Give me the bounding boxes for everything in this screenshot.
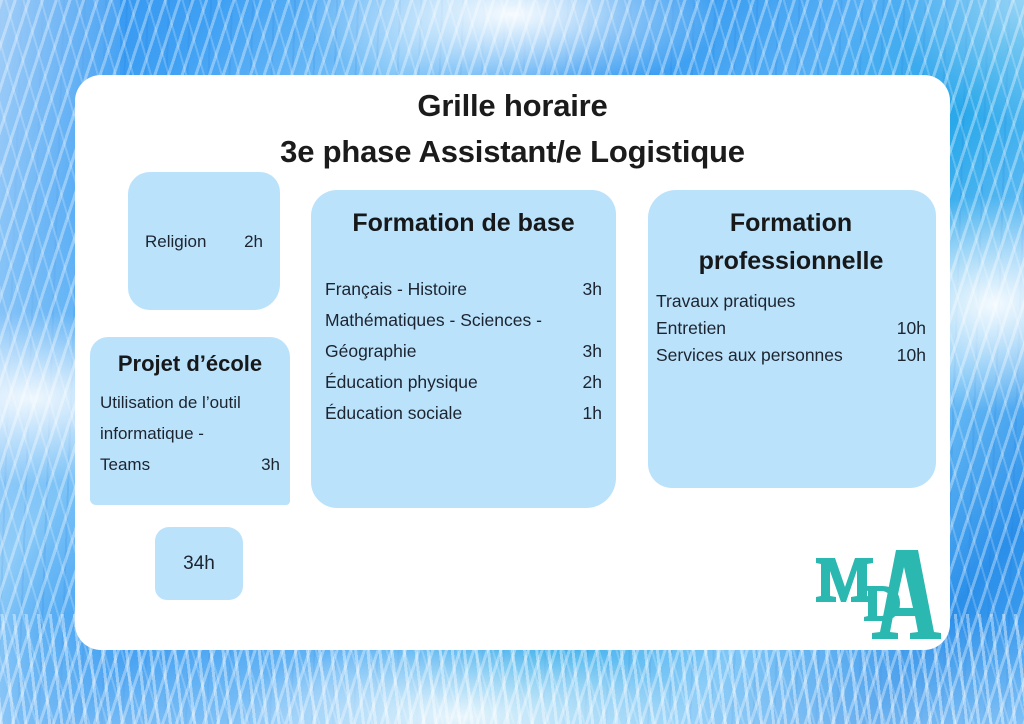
page-title-line-1: Grille horaire bbox=[75, 83, 950, 129]
logo-letter-a bbox=[872, 550, 941, 639]
table-row: Teams 3h bbox=[100, 449, 280, 480]
table-row: Entretien 10h bbox=[656, 315, 926, 342]
total-hours-value: 34h bbox=[183, 553, 215, 575]
subject-label: Travaux pratiques bbox=[656, 288, 795, 315]
table-row: Services aux personnes 10h bbox=[656, 342, 926, 369]
panel-total-hours: 34h bbox=[155, 527, 243, 600]
projet-line-2: informatique - bbox=[100, 418, 280, 449]
subject-hours: 3h bbox=[261, 449, 280, 480]
mda-logo bbox=[810, 540, 945, 640]
subject-label: Religion bbox=[145, 225, 206, 258]
projet-line-1: Utilisation de l’outil bbox=[100, 387, 280, 418]
panel-formation-de-base: Formation de base Français - Histoire 3h… bbox=[311, 190, 616, 508]
panel-formation-professionnelle-heading-line-1: Formation bbox=[656, 204, 926, 242]
subject-hours: 10h bbox=[886, 315, 926, 342]
subject-label: Entretien bbox=[656, 315, 726, 342]
panel-projet-ecole-heading: Projet d’école bbox=[100, 349, 280, 379]
subject-label: Français - Histoire bbox=[325, 274, 467, 305]
table-row: Éducation sociale 1h bbox=[325, 398, 602, 429]
subject-label: Éducation sociale bbox=[325, 398, 462, 429]
subject-hours: 3h bbox=[568, 336, 602, 367]
panel-formation-de-base-heading: Formation de base bbox=[325, 206, 602, 240]
table-row: Français - Histoire 3h bbox=[325, 274, 602, 305]
subject-label: Géographie bbox=[325, 336, 416, 367]
subject-label: Mathématiques - Sciences - bbox=[325, 305, 542, 336]
panel-formation-professionnelle-rows: Travaux pratiques Entretien 10h Services… bbox=[656, 288, 926, 369]
panel-formation-professionnelle-heading-line-2: professionnelle bbox=[656, 242, 926, 280]
subject-hours: 10h bbox=[886, 342, 926, 369]
table-row: Éducation physique 2h bbox=[325, 367, 602, 398]
panel-formation-professionnelle: Formation professionnelle Travaux pratiq… bbox=[648, 190, 936, 488]
table-row: Mathématiques - Sciences - bbox=[325, 305, 602, 336]
table-row: Travaux pratiques bbox=[656, 288, 926, 315]
subject-label: Services aux personnes bbox=[656, 342, 843, 369]
page-title-line-2: 3e phase Assistant/e Logistique bbox=[75, 129, 950, 175]
table-row: Géographie 3h bbox=[325, 336, 602, 367]
subject-hours: 1h bbox=[568, 398, 602, 429]
panel-religion: Religion 2h bbox=[128, 172, 280, 310]
subject-label: Éducation physique bbox=[325, 367, 478, 398]
panel-projet-ecole: Projet d’école Utilisation de l’outil in… bbox=[90, 337, 290, 505]
page-title: Grille horaire 3e phase Assistant/e Logi… bbox=[75, 83, 950, 175]
subject-hours: 2h bbox=[244, 225, 263, 258]
subject-hours: 2h bbox=[568, 367, 602, 398]
subject-label: Teams bbox=[100, 449, 150, 480]
logo-letter-m bbox=[816, 558, 873, 602]
subject-hours: 3h bbox=[568, 274, 602, 305]
table-row: Religion 2h bbox=[145, 225, 263, 258]
